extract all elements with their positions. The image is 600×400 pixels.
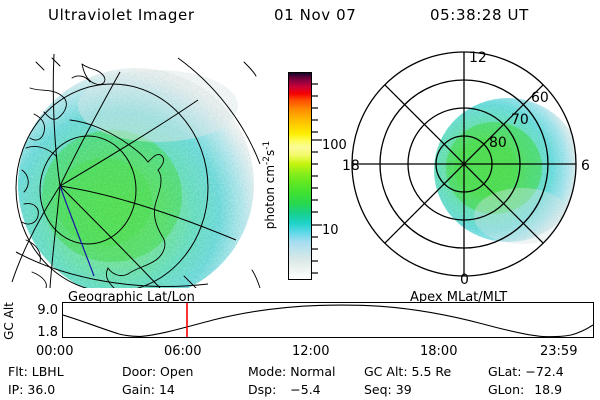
status-gain-label: Gain: <box>122 382 155 397</box>
geographic-image-panel <box>8 44 266 288</box>
mlt-spokes <box>352 52 576 276</box>
status-glon-value: 18.9 <box>534 382 562 397</box>
cb-title-main: photon cm <box>263 165 277 229</box>
status-gcalt-value: 5.5 Re <box>412 364 452 379</box>
header-time: 05:38:28 UT <box>430 6 529 24</box>
status-ip: IP: 36.0 <box>8 382 55 397</box>
status-glon-label: GLon: <box>488 382 524 397</box>
xtick-3: 18:00 <box>420 344 457 359</box>
status-gain-value: 14 <box>159 382 175 397</box>
geographic-plot-svg <box>8 44 266 288</box>
status-door-label: Door: <box>122 364 156 379</box>
altitude-curve-svg <box>63 303 593 337</box>
status-dsp-label: Dsp: <box>248 382 276 397</box>
cb-title-sup2: -1 <box>262 141 272 150</box>
status-seq-value: 39 <box>396 382 412 397</box>
colorbar <box>288 72 312 280</box>
colorbar-axis-title: photon cm-2s-1 <box>262 110 280 260</box>
mlat-label-70: 70 <box>511 112 529 128</box>
status-glat-label: GLat: <box>488 364 521 379</box>
altitude-ytick-min: 1.8 <box>18 325 58 340</box>
status-dsp-value: −5.4 <box>290 382 320 397</box>
apex-dial-panel: 12 6 0 18 60 70 80 <box>336 44 592 290</box>
cb-title-sup1: -2 <box>262 156 272 165</box>
mlt-label-12: 12 <box>469 50 487 66</box>
status-gcalt: GC Alt: 5.5 Re <box>364 364 451 379</box>
status-door-value: Open <box>160 364 193 379</box>
status-gcalt-label: GC Alt: <box>364 364 408 379</box>
cb-title-mid: s <box>263 150 277 156</box>
mlt-label-18: 18 <box>342 158 360 174</box>
status-flt-label: Flt: <box>8 364 28 379</box>
status-mode-label: Mode: <box>248 364 286 379</box>
status-glat-value: −72.4 <box>525 364 563 379</box>
header-date: 01 Nov 07 <box>274 6 356 24</box>
altitude-curve <box>63 305 593 337</box>
xtick-0: 00:00 <box>36 344 73 359</box>
status-mode-value: Normal <box>290 364 335 379</box>
status-seq-label: Seq: <box>364 382 392 397</box>
status-flt-value: LBHL <box>32 364 64 379</box>
status-dsp: Dsp: −5.4 <box>248 382 321 397</box>
altitude-axis-label-text: GC Alt <box>2 300 16 342</box>
ultraviolet-imager-figure: Ultraviolet Imager 01 Nov 07 05:38:28 UT <box>0 0 600 400</box>
gc-altitude-timeseries <box>62 302 594 338</box>
xtick-4: 23:59 <box>540 344 577 359</box>
xtick-1: 06:00 <box>164 344 201 359</box>
mlat-label-80: 80 <box>489 135 507 151</box>
page-title: Ultraviolet Imager <box>48 6 195 24</box>
mlat-label-60: 60 <box>531 90 549 106</box>
altitude-ytick-max: 9.0 <box>18 303 58 318</box>
colorbar-gradient <box>289 73 311 279</box>
status-flt: Flt: LBHL <box>8 364 64 379</box>
status-mode: Mode: Normal <box>248 364 336 379</box>
mlt-label-6: 6 <box>581 158 590 174</box>
status-ip-label: IP: <box>8 382 23 397</box>
status-glat: GLat: −72.4 <box>488 364 564 379</box>
polar-plot-svg: 12 6 0 18 60 70 80 <box>336 44 592 290</box>
figure-header: Ultraviolet Imager 01 Nov 07 05:38:28 UT <box>0 6 600 28</box>
mlt-label-0: 0 <box>460 272 469 288</box>
xtick-2: 12:00 <box>292 344 329 359</box>
status-seq: Seq: 39 <box>364 382 412 397</box>
status-glon: GLon: 18.9 <box>488 382 562 397</box>
altitude-axis-label: GC Alt <box>2 300 18 342</box>
status-block: Flt: LBHL IP: 36.0 Door: Open Gain: 14 M… <box>0 364 600 400</box>
status-gain: Gain: 14 <box>122 382 175 397</box>
status-door: Door: Open <box>122 364 193 379</box>
status-ip-value: 36.0 <box>27 382 55 397</box>
